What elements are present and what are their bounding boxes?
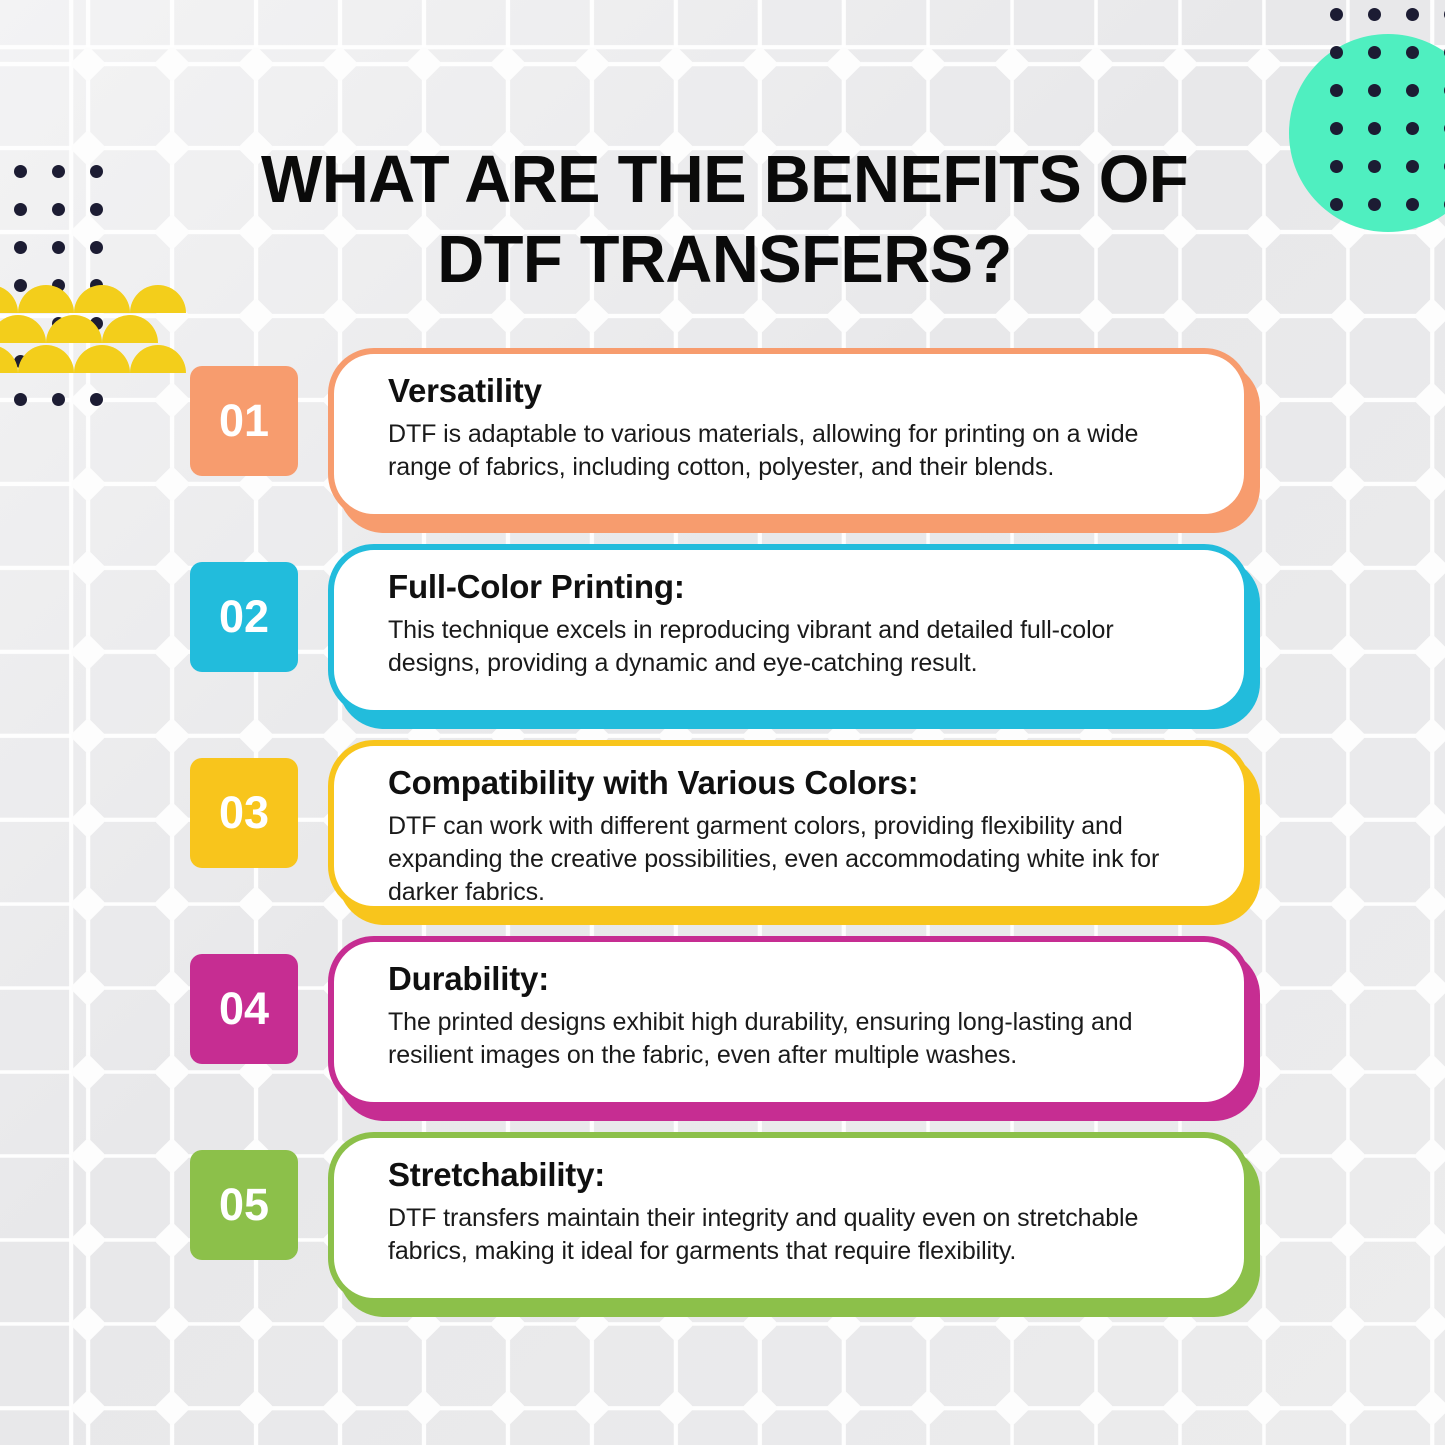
benefit-card[interactable]: VersatilityDTF is adaptable to various m… (328, 348, 1250, 520)
benefit-description: DTF is adaptable to various materials, a… (388, 418, 1204, 484)
benefit-number-badge: 01 (190, 366, 298, 476)
benefit-title: Versatility (388, 372, 1204, 410)
benefit-number: 01 (219, 395, 269, 447)
benefit-row[interactable]: 03Compatibility with Various Colors:DTF … (0, 740, 1445, 936)
benefit-card-wrapper[interactable]: Full-Color Printing:This technique excel… (328, 544, 1250, 716)
benefit-description: DTF transfers maintain their integrity a… (388, 1202, 1204, 1268)
benefit-description: The printed designs exhibit high durabil… (388, 1006, 1204, 1072)
benefit-card[interactable]: Full-Color Printing:This technique excel… (328, 544, 1250, 716)
benefit-title: Compatibility with Various Colors: (388, 764, 1204, 802)
benefit-card-wrapper[interactable]: VersatilityDTF is adaptable to various m… (328, 348, 1250, 520)
benefit-row[interactable]: 05Stretchability:DTF transfers maintain … (0, 1132, 1445, 1328)
benefit-number: 05 (219, 1179, 269, 1231)
benefit-card-wrapper[interactable]: Durability:The printed designs exhibit h… (328, 936, 1250, 1108)
benefit-title: Durability: (388, 960, 1204, 998)
benefit-card[interactable]: Compatibility with Various Colors:DTF ca… (328, 740, 1250, 912)
benefit-row[interactable]: 02Full-Color Printing:This technique exc… (0, 544, 1445, 740)
benefit-description: This technique excels in reproducing vib… (388, 614, 1204, 680)
benefit-number: 03 (219, 787, 269, 839)
page-title: WHAT ARE THE BENEFITS OF DTF TRANSFERS? (198, 140, 1250, 300)
benefit-number: 02 (219, 591, 269, 643)
benefit-title: Full-Color Printing: (388, 568, 1204, 606)
benefit-card[interactable]: Durability:The printed designs exhibit h… (328, 936, 1250, 1108)
benefit-number-badge: 02 (190, 562, 298, 672)
benefit-row[interactable]: 04Durability:The printed designs exhibit… (0, 936, 1445, 1132)
content-root: WHAT ARE THE BENEFITS OF DTF TRANSFERS? … (0, 0, 1445, 1445)
benefit-number-badge: 05 (190, 1150, 298, 1260)
benefit-number: 04 (219, 983, 269, 1035)
benefit-card[interactable]: Stretchability:DTF transfers maintain th… (328, 1132, 1250, 1304)
benefit-description: DTF can work with different garment colo… (388, 810, 1204, 909)
benefit-card-wrapper[interactable]: Compatibility with Various Colors:DTF ca… (328, 740, 1250, 912)
benefit-number-badge: 03 (190, 758, 298, 868)
benefit-title: Stretchability: (388, 1156, 1204, 1194)
benefit-row[interactable]: 01VersatilityDTF is adaptable to various… (0, 348, 1445, 544)
benefit-number-badge: 04 (190, 954, 298, 1064)
benefit-card-wrapper[interactable]: Stretchability:DTF transfers maintain th… (328, 1132, 1250, 1304)
